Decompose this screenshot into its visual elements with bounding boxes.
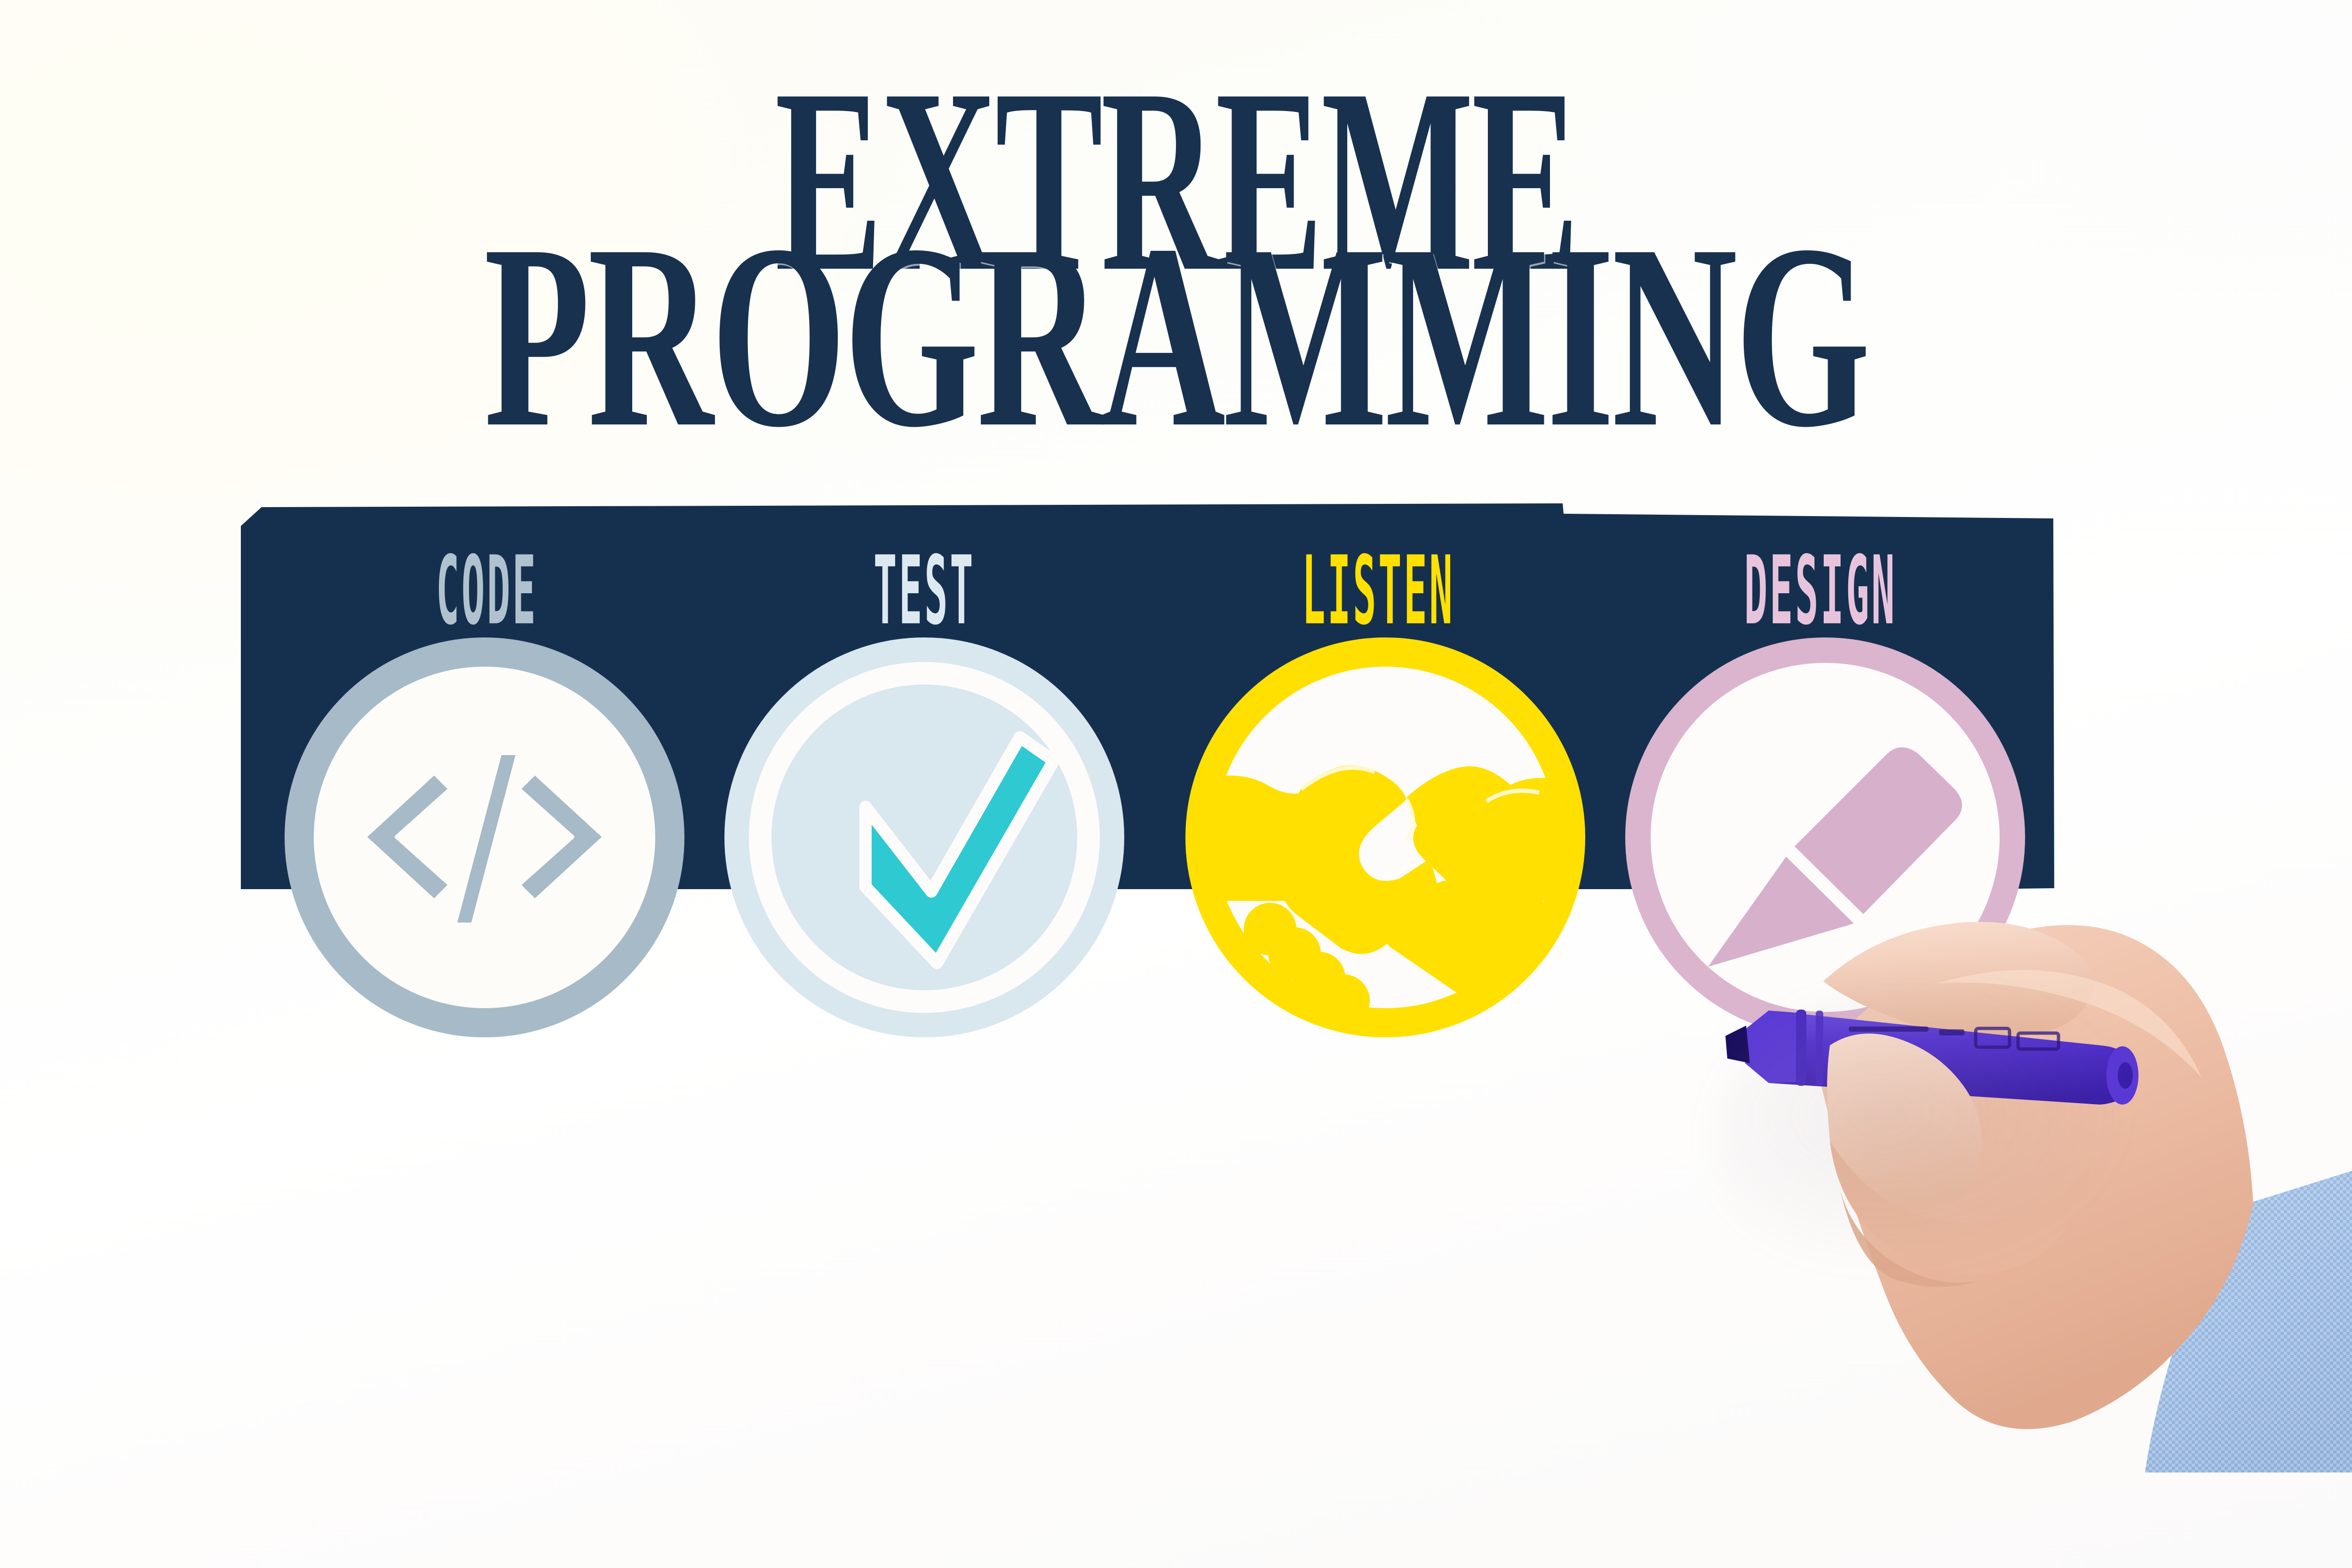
step-label-design: DESIGN <box>1704 536 1937 646</box>
step-label-listen: LISTEN <box>1262 536 1495 646</box>
checkmark-icon <box>724 637 1124 1037</box>
code-brackets-icon <box>285 637 684 1037</box>
pencil-icon <box>1625 637 2025 1037</box>
curled-fingers <box>1830 1141 2090 1275</box>
step-label-code: CODE <box>371 536 604 646</box>
poster-canvas: EXTREME PROGRAMMING CODE TEST LISTEN DES… <box>0 0 2352 1568</box>
thumb <box>1827 1034 1982 1217</box>
shirt-cuff <box>2145 1162 2352 1472</box>
title-line-programming: PROGRAMMING <box>165 226 2187 447</box>
step-label-test: TEST <box>808 536 1041 646</box>
handshake-icon <box>1185 637 1585 1037</box>
page-title: EXTREME PROGRAMMING <box>0 71 2352 396</box>
finger-shadow <box>1840 1190 1980 1287</box>
